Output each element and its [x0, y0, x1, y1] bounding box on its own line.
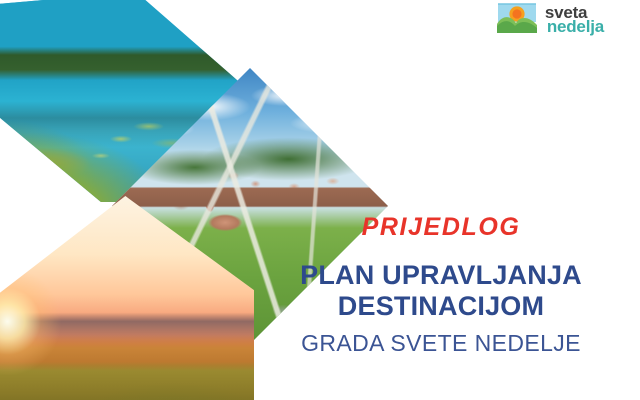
- brand-logo: sveta nedelja: [495, 2, 604, 36]
- headline-block: PRIJEDLOG PLAN UPRAVLJANJA DESTINACIJOM …: [276, 214, 606, 358]
- sun-over-hills-icon: [495, 2, 539, 36]
- cover-slide: sveta nedelja PRIJEDLOG PLAN UPRAVLJANJA…: [0, 0, 640, 400]
- title-line-1: PLAN UPRAVLJANJA: [300, 260, 582, 290]
- page-subtitle: GRADA SVETE NEDELJE: [276, 330, 606, 358]
- brand-wordmark: sveta nedelja: [545, 4, 604, 35]
- title-line-2: DESTINACIJOM: [338, 291, 544, 321]
- brand-name-line-2: nedelja: [547, 18, 604, 35]
- page-title: PLAN UPRAVLJANJA DESTINACIJOM: [276, 260, 606, 324]
- kicker-label: PRIJEDLOG: [276, 214, 606, 242]
